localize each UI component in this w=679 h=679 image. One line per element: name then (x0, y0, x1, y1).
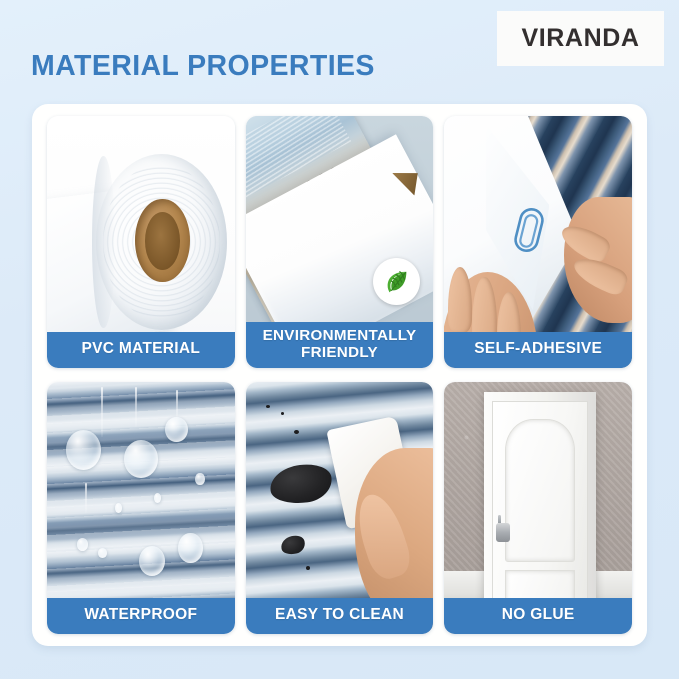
pvc-roll-image (47, 116, 235, 368)
feature-label-self-adhesive: SELF-ADHESIVE (444, 332, 632, 368)
feature-tile-waterproof: WATERPROOF (47, 382, 235, 634)
feature-grid: PVC MATERIAL (47, 116, 632, 634)
page-title: MATERIAL PROPERTIES (31, 50, 375, 83)
header: MATERIAL PROPERTIES VIRANDA (0, 0, 679, 104)
feature-label-environmentally-friendly: ENVIRONMENTALLY FRIENDLY (246, 322, 434, 368)
feature-label-easy-to-clean: EASY TO CLEAN (246, 598, 434, 634)
feature-tile-no-glue: NO GLUE (444, 382, 632, 634)
feature-label-no-glue: NO GLUE (444, 598, 632, 634)
brand-name: VIRANDA (521, 24, 639, 53)
feature-label-pvc-material: PVC MATERIAL (47, 332, 235, 368)
feature-tile-self-adhesive: SELF-ADHESIVE (444, 116, 632, 368)
feature-tile-pvc-material: PVC MATERIAL (47, 116, 235, 368)
label-line-1: ENVIRONMENTALLY (248, 328, 432, 344)
eco-badge (373, 258, 420, 305)
waterproof-image (47, 382, 235, 634)
label-line-2: FRIENDLY (248, 345, 432, 361)
feature-tile-easy-to-clean: EASY TO CLEAN (246, 382, 434, 634)
feature-card: PVC MATERIAL (32, 104, 647, 646)
no-glue-image (444, 382, 632, 634)
feature-label-waterproof: WATERPROOF (47, 598, 235, 634)
easy-to-clean-image (246, 382, 434, 634)
leaf-icon (382, 267, 412, 297)
brand-logo-box: VIRANDA (497, 11, 664, 66)
self-adhesive-image (444, 116, 632, 368)
feature-tile-environmentally-friendly: ENVIRONMENTALLY FRIENDLY (246, 116, 434, 368)
